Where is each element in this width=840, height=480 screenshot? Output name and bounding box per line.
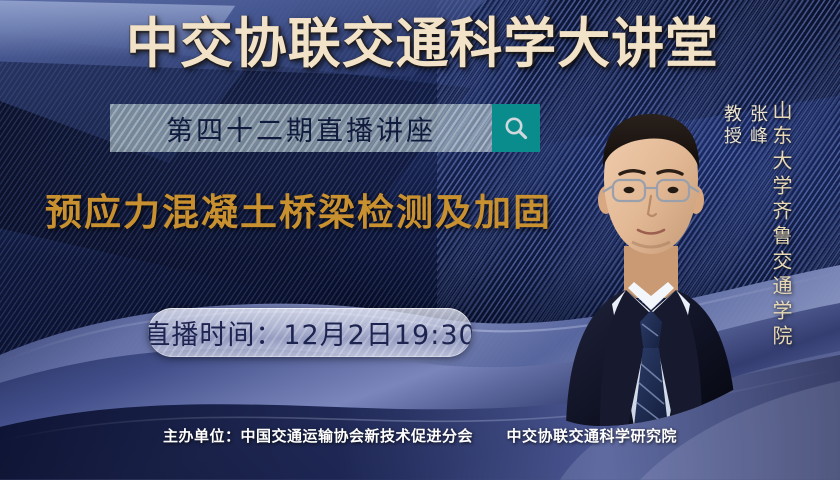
organizer-secondary: 中交协联交通科学研究院 <box>506 427 677 445</box>
live-time-text: 直播时间：12月2日19:30 <box>148 313 472 352</box>
organizer-primary: 主办单位：中国交通运输协会新技术促进分会 <box>163 427 473 445</box>
speaker-name-block: 张峰 教授 <box>718 104 770 148</box>
footer-organizers: 主办单位：中国交通运输协会新技术促进分会 中交协联交通科学研究院 <box>0 425 840 446</box>
live-time-badge: 直播时间：12月2日19:30 <box>148 308 472 357</box>
live-lecture-poster: 中交协联交通科学大讲堂 第四十二期直播讲座 预应力混凝土桥梁检测及加固 直播时间… <box>0 0 840 480</box>
page-title: 中交协联交通科学大讲堂 <box>126 12 714 76</box>
subtitle-text: 第四十二期直播讲座 <box>166 109 436 148</box>
subtitle-banner: 第四十二期直播讲座 <box>110 104 492 152</box>
speaker-name: 张峰 <box>747 104 768 148</box>
speaker-title: 教授 <box>721 104 742 148</box>
speaker-institute: 山东大学齐鲁交通学院 <box>767 100 796 350</box>
search-icon[interactable] <box>492 104 540 152</box>
lecture-title: 预应力混凝土桥梁检测及加固 <box>45 190 552 236</box>
